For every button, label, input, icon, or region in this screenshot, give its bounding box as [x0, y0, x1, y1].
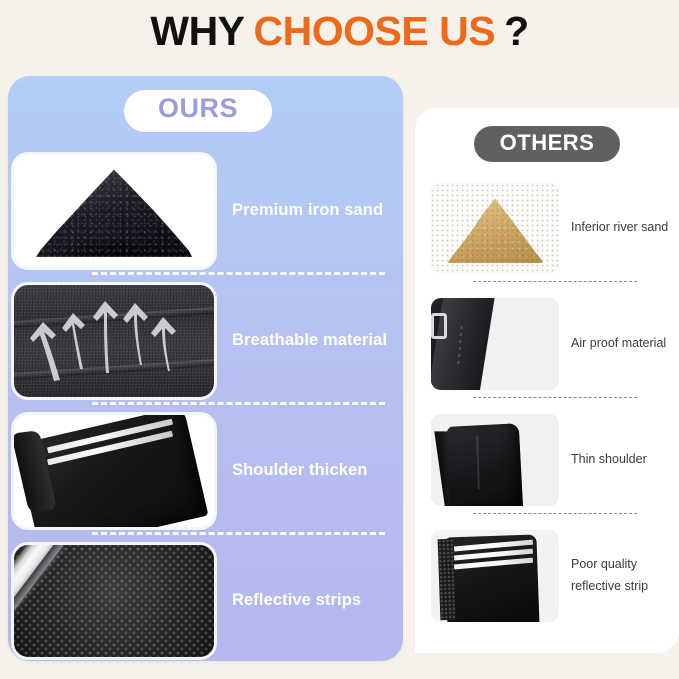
others-item-label: Thin shoulder — [571, 449, 647, 471]
ours-badge: OURS — [124, 90, 272, 132]
buckle-icon — [431, 313, 447, 339]
page-title-question-mark: ? — [504, 8, 529, 54]
ours-row-divider — [92, 402, 385, 405]
iron-sand-thumbnail — [14, 155, 214, 267]
others-list-item: Thin shoulder — [415, 402, 679, 518]
others-row-divider — [473, 281, 637, 282]
airproof-strap-thumbnail — [431, 298, 559, 390]
others-list-item: Inferior river sand — [415, 170, 679, 286]
others-row-divider — [473, 397, 637, 398]
page-header: WHYCHOOSE US? — [0, 0, 679, 62]
ours-list-item: Shoulder thicken — [8, 406, 403, 536]
ours-item-label: Shoulder thicken — [232, 460, 367, 481]
shoulder-thicken-thumbnail — [14, 415, 214, 527]
ours-row-list: Premium iron sand — [8, 146, 403, 661]
ours-item-label: Premium iron sand — [232, 200, 383, 221]
page-title-part-why: WHY — [150, 8, 244, 54]
others-list-item: Air proof material — [415, 286, 679, 402]
others-item-label: Inferior river sand — [571, 217, 668, 239]
ours-badge-wrap: OURS — [124, 90, 272, 132]
ours-list-item: Premium iron sand — [8, 146, 403, 276]
breathable-mesh-fabric-photo — [14, 285, 214, 397]
page-title-part-choose-us: CHOOSE US — [254, 8, 496, 54]
page-title: WHYCHOOSE US? — [150, 11, 528, 52]
airflow-arrows-icon — [14, 285, 214, 397]
river-sand-pile-photo — [431, 182, 559, 274]
ours-row-divider — [92, 272, 385, 275]
ours-list-item: Reflective strips — [8, 536, 403, 661]
breathable-material-thumbnail — [14, 285, 214, 397]
reflective-strips-thumbnail — [14, 545, 214, 657]
river-sand-thumbnail — [431, 182, 559, 274]
iron-sand-pile-photo — [14, 155, 214, 267]
reflective-strip-on-mesh-photo — [14, 545, 214, 657]
others-row-divider — [473, 513, 637, 514]
thin-shoulder-pad-photo — [431, 414, 559, 506]
ours-item-label: Breathable material — [232, 330, 387, 351]
others-badge-wrap: OTHERS — [415, 126, 679, 162]
ours-item-label: Reflective strips — [232, 590, 361, 611]
airproof-strap-with-buckle-photo — [431, 298, 559, 390]
thick-padded-shoulder-strap-photo — [14, 415, 214, 527]
others-panel: OTHERS Inferior river sand — [415, 108, 679, 653]
poor-reflective-strip-photo — [431, 530, 559, 622]
thin-shoulder-thumbnail — [431, 414, 559, 506]
others-badge: OTHERS — [474, 126, 621, 162]
ours-panel: OURS Premium iron sand — [8, 76, 403, 661]
others-row-list: Inferior river sand Air proof material — [415, 170, 679, 634]
poor-reflective-strip-thumbnail — [431, 530, 559, 622]
others-list-item: Poor quality reflective strip — [415, 518, 679, 634]
ours-row-divider — [92, 532, 385, 535]
others-item-label: Poor quality reflective strip — [571, 554, 648, 598]
others-item-label: Air proof material — [571, 333, 666, 355]
ours-list-item: Breathable material — [8, 276, 403, 406]
